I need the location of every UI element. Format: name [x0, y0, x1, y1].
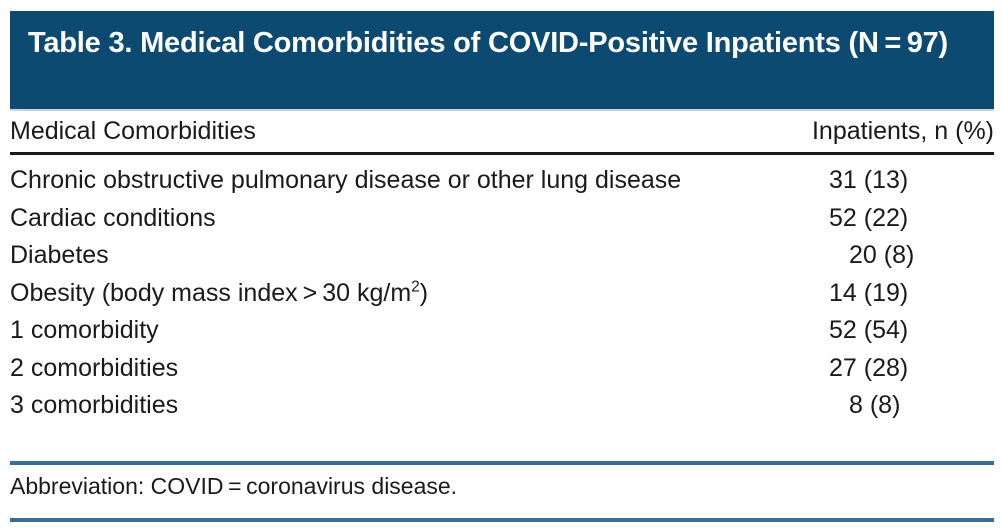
row-value: 20 (8): [805, 234, 994, 272]
row-label: 2 comorbidities: [10, 347, 805, 385]
row-label-text: Chronic obstructive pulmonary disease or…: [10, 164, 748, 197]
table-footnote: Abbreviation: COVID = coronavirus diseas…: [10, 472, 994, 501]
row-value: 52 (22): [805, 197, 994, 235]
table-figure: Table 3. Medical Comorbidities of COVID-…: [0, 0, 1002, 532]
row-value: 31 (13): [805, 154, 994, 197]
row-label: Cardiac conditions: [10, 197, 805, 235]
column-header-comorbidities: Medical Comorbidities: [10, 116, 805, 154]
row-label: 3 comorbidities: [10, 384, 805, 422]
table-row: 3 comorbidities 8 (8): [10, 384, 994, 422]
table-row: Cardiac conditions 52 (22): [10, 197, 994, 235]
column-header-inpatients: Inpatients, n (%): [805, 116, 994, 154]
row-value: 14 (19): [805, 272, 994, 310]
title-band-underline: [10, 109, 994, 111]
row-label-text: Obesity (body mass index > 30 kg/m: [10, 279, 411, 307]
table-row: Chronic obstructive pulmonary disease or…: [10, 154, 994, 197]
row-label-superscript: 2: [411, 278, 420, 295]
row-label-text-tail: ): [420, 279, 428, 307]
table-row: Obesity (body mass index > 30 kg/m2) 14 …: [10, 272, 994, 310]
table-row: 1 comorbidity 52 (54): [10, 309, 994, 347]
table-row: Diabetes 20 (8): [10, 234, 994, 272]
comorbidities-table: Medical Comorbidities Inpatients, n (%) …: [10, 116, 994, 422]
row-label: Obesity (body mass index > 30 kg/m2): [10, 272, 805, 310]
table-body: Chronic obstructive pulmonary disease or…: [10, 154, 994, 422]
row-label: Diabetes: [10, 234, 805, 272]
table-bottom-rule: [10, 518, 994, 522]
table-header-row: Medical Comorbidities Inpatients, n (%): [10, 116, 994, 154]
footnote-top-rule: [10, 461, 994, 465]
row-value: 8 (8): [805, 384, 994, 422]
row-value: 27 (28): [805, 347, 994, 385]
row-label: 1 comorbidity: [10, 309, 805, 347]
table-title: Table 3. Medical Comorbidities of COVID-…: [28, 25, 976, 62]
table-row: 2 comorbidities 27 (28): [10, 347, 994, 385]
row-value: 52 (54): [805, 309, 994, 347]
table-title-band: Table 3. Medical Comorbidities of COVID-…: [10, 11, 994, 109]
row-label: Chronic obstructive pulmonary disease or…: [10, 154, 805, 197]
